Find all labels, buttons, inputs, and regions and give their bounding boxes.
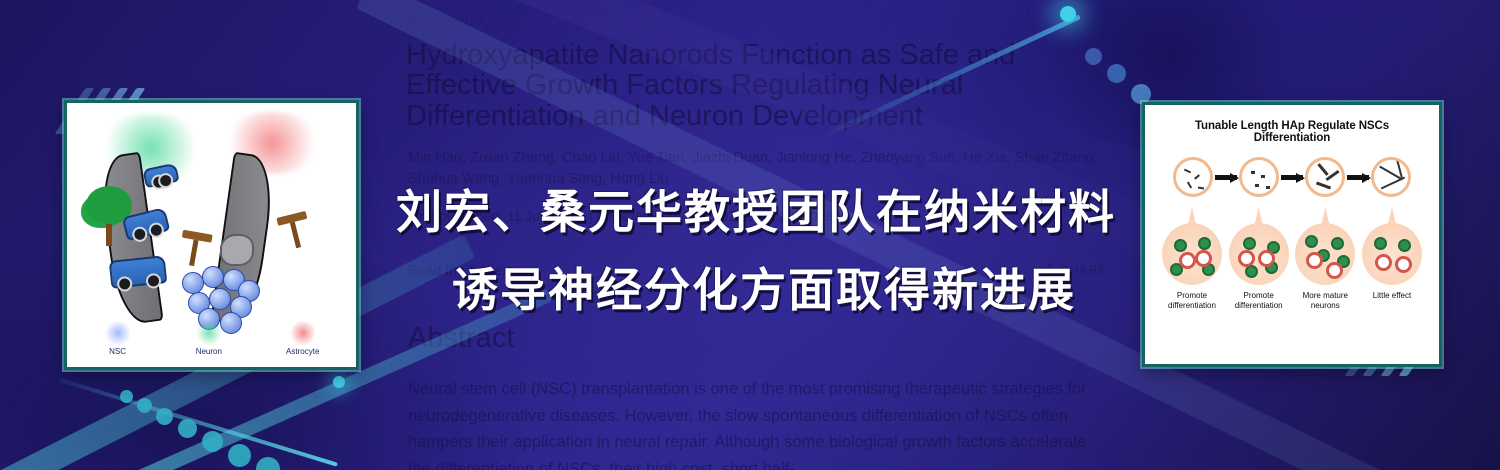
neural-differentiation-illustration: NSC Neuron Astrocyte: [72, 108, 351, 362]
nanorod-circle-3: [1305, 157, 1345, 197]
legend-item: NSC: [104, 321, 132, 356]
hap-caption: More mature neurons: [1293, 291, 1357, 311]
hap-caption: Promote differentiation: [1227, 291, 1291, 311]
legend-label: Astrocyte: [286, 347, 319, 356]
nanorod-circle-4: [1371, 157, 1411, 197]
figure-legend: NSC Neuron Astrocyte: [72, 321, 351, 356]
legend-label: Neuron: [196, 347, 222, 356]
nanorod-circle-1: [1173, 157, 1213, 197]
astrocyte-icon: [289, 321, 317, 345]
abstract-heading: Abstract: [408, 322, 514, 355]
hap-column-captions: Promote differentiation Promote differen…: [1158, 291, 1426, 311]
headline-line-1: 刘宏、桑元华教授团队在纳米材料: [396, 176, 1116, 242]
arrow-icon: [1281, 175, 1303, 180]
nsc-cell-cluster: [180, 266, 260, 328]
droplet-1: [1160, 207, 1224, 287]
neuron-icon: [195, 321, 223, 345]
article-kicker: Research Article: [408, 14, 520, 31]
left-figure-panel: NSC Neuron Astrocyte: [64, 100, 359, 370]
tree-icon: [86, 186, 132, 246]
hap-caption: Little effect: [1360, 291, 1424, 311]
right-figure-panel: Tunable Length HAp Regulate NSCs Differe…: [1142, 102, 1442, 367]
signpost-icon: [276, 211, 313, 251]
arrow-icon: [1215, 175, 1237, 180]
legend-item: Astrocyte: [286, 321, 319, 356]
headline-line-2: 诱导神经分化方面取得新进展: [452, 254, 1076, 320]
banner-root: Research Article Hydroxyapatite Nanorods…: [0, 0, 1500, 470]
hap-figure-title: Tunable Length HAp Regulate NSCs Differe…: [1158, 120, 1426, 144]
hap-droplet-series: [1158, 207, 1426, 287]
arrow-icon: [1347, 175, 1369, 180]
signpost-icon: [177, 230, 212, 269]
article-title: Hydroxyapatite Nanorods Function as Safe…: [406, 40, 1106, 131]
legend-item: Neuron: [195, 321, 223, 356]
rock-obstacle: [220, 234, 254, 266]
car-icon: [109, 255, 168, 289]
connector-line: [816, 14, 1081, 141]
nsc-icon: [104, 321, 132, 345]
droplet-2: [1227, 207, 1291, 287]
connector-line: [59, 378, 337, 467]
glow-node: [1060, 6, 1076, 22]
droplet-4: [1360, 207, 1424, 287]
hap-nanorod-series: [1158, 157, 1426, 197]
hap-differentiation-figure: Tunable Length HAp Regulate NSCs Differe…: [1150, 110, 1434, 359]
legend-label: NSC: [109, 347, 126, 356]
droplet-3: [1293, 207, 1357, 287]
glow-node: [333, 376, 345, 388]
nanorod-circle-2: [1239, 157, 1279, 197]
abstract-body: Neural stem cell (NSC) transplantation i…: [408, 376, 1108, 470]
hap-caption: Promote differentiation: [1160, 291, 1224, 311]
